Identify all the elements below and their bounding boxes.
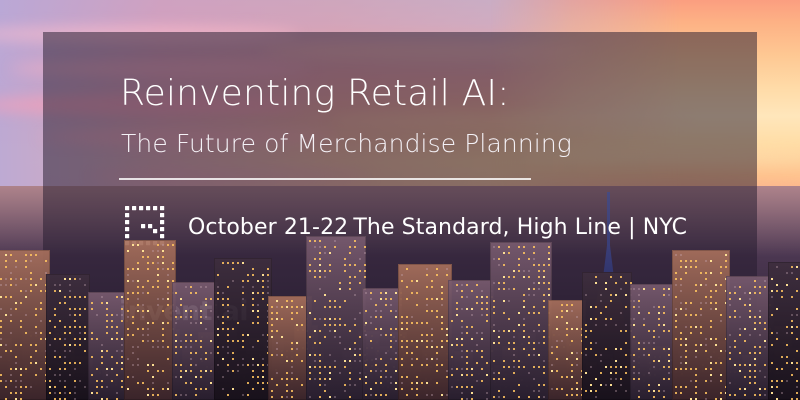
window-light (538, 390, 540, 392)
window-light (523, 270, 525, 272)
window-light (121, 308, 123, 310)
window-light (508, 276, 510, 278)
window-light (380, 334, 382, 336)
window-light (271, 324, 273, 326)
window-light (370, 298, 372, 300)
window-light (101, 362, 103, 364)
window-light (658, 360, 660, 362)
window-light (172, 262, 174, 264)
window-light (668, 378, 670, 380)
window-light (648, 354, 650, 356)
window-light (786, 326, 788, 328)
window-light (523, 294, 525, 296)
window-light (725, 260, 727, 262)
window-light (227, 262, 229, 264)
window-light (543, 276, 545, 278)
window-light (106, 314, 108, 316)
window-light (354, 246, 356, 248)
window-light (339, 282, 341, 284)
window-light (648, 312, 650, 314)
window-light (296, 348, 298, 350)
window-light (486, 314, 488, 316)
window-light (451, 320, 453, 322)
window-light (416, 382, 418, 384)
window-light (252, 370, 254, 372)
window-light (59, 320, 61, 322)
window-light (116, 392, 118, 394)
window-light (74, 392, 76, 394)
window-light (232, 262, 234, 264)
window-light (91, 374, 93, 376)
window-light (543, 342, 545, 344)
window-light (195, 322, 197, 324)
window-light (5, 260, 7, 262)
window-light (791, 266, 793, 268)
building (124, 240, 176, 400)
window-light (523, 348, 525, 350)
window-light (167, 298, 169, 300)
window-light (493, 396, 495, 398)
window-light (625, 306, 627, 308)
window-light (653, 390, 655, 392)
window-light (79, 362, 81, 364)
window-light (329, 324, 331, 326)
window-light (498, 390, 500, 392)
window-light (319, 396, 321, 398)
window-light (543, 270, 545, 272)
window-light (200, 340, 202, 342)
window-light (200, 388, 202, 390)
window-light (217, 364, 219, 366)
window-light (513, 372, 515, 374)
window-light (286, 378, 288, 380)
window-light (84, 386, 86, 388)
window-light (276, 354, 278, 356)
window-light (543, 282, 545, 284)
window-light (79, 332, 81, 334)
window-light (451, 374, 453, 376)
window-light (571, 352, 573, 354)
window-light (680, 266, 682, 268)
window-light (653, 366, 655, 368)
window-light (620, 378, 622, 380)
window-light (276, 318, 278, 320)
window-light (471, 290, 473, 292)
window-light (237, 340, 239, 342)
window-light (503, 288, 505, 290)
window-light (162, 370, 164, 372)
window-light (64, 380, 66, 382)
window-light (106, 332, 108, 334)
window-light (680, 260, 682, 262)
window-light (385, 352, 387, 354)
window-light (5, 278, 7, 280)
window-light (759, 352, 761, 354)
window-light (658, 312, 660, 314)
window-light (710, 356, 712, 358)
window-light (121, 320, 123, 322)
window-light (5, 296, 7, 298)
window-light (185, 334, 187, 336)
window-light (157, 298, 159, 300)
window-light (675, 326, 677, 328)
window-light (354, 354, 356, 356)
window-light (147, 394, 149, 396)
window-light (796, 362, 798, 364)
window-light (461, 392, 463, 394)
window-light (720, 272, 722, 274)
window-light (585, 348, 587, 350)
window-light (237, 262, 239, 264)
window-light (451, 386, 453, 388)
window-light (64, 362, 66, 364)
window-light (91, 338, 93, 340)
window-light (232, 388, 234, 390)
window-light (513, 330, 515, 332)
window-light (222, 298, 224, 300)
window-light (739, 388, 741, 390)
window-light (493, 324, 495, 326)
window-light (314, 354, 316, 356)
window-light (571, 310, 573, 312)
window-light (498, 246, 500, 248)
window-light (551, 352, 553, 354)
window-light (796, 392, 798, 394)
window-light (498, 282, 500, 284)
window-light (0, 278, 2, 280)
window-light (20, 290, 22, 292)
window-light (675, 254, 677, 256)
window-light (715, 302, 717, 304)
window-light (754, 382, 756, 384)
window-light (344, 390, 346, 392)
window-light (339, 306, 341, 308)
window-light (20, 326, 22, 328)
window-light (175, 334, 177, 336)
window-light (5, 380, 7, 382)
window-light (498, 372, 500, 374)
window-light (69, 296, 71, 298)
window-light (493, 282, 495, 284)
window-light (528, 270, 530, 272)
window-light (734, 340, 736, 342)
window-light (185, 316, 187, 318)
window-light (471, 386, 473, 388)
window-light (411, 322, 413, 324)
window-light (147, 262, 149, 264)
window-light (74, 362, 76, 364)
window-light (309, 372, 311, 374)
window-light (217, 286, 219, 288)
window-light (79, 380, 81, 382)
window-light (247, 382, 249, 384)
window-light (653, 360, 655, 362)
window-light (685, 326, 687, 328)
window-light (401, 316, 403, 318)
window-light (476, 302, 478, 304)
window-light (690, 326, 692, 328)
window-light (466, 308, 468, 310)
window-light (431, 298, 433, 300)
window-light (375, 316, 377, 318)
window-light (556, 358, 558, 360)
window-light (633, 318, 635, 320)
window-light (663, 378, 665, 380)
window-light (127, 250, 129, 252)
window-light (513, 288, 515, 290)
window-light (416, 394, 418, 396)
window-light (528, 258, 530, 260)
window-light (49, 344, 51, 346)
window-light (518, 264, 520, 266)
window-light (79, 314, 81, 316)
window-light (84, 308, 86, 310)
window-light (147, 364, 149, 366)
window-light (20, 320, 22, 322)
window-light (227, 298, 229, 300)
window-light (466, 386, 468, 388)
window-light (291, 390, 293, 392)
window-light (271, 378, 273, 380)
window-light (776, 332, 778, 334)
window-light (319, 360, 321, 362)
window-light (329, 300, 331, 302)
window-light (759, 310, 761, 312)
window-light (754, 364, 756, 366)
window-light (262, 280, 264, 282)
window-light (605, 318, 607, 320)
window-light (486, 392, 488, 394)
window-light (200, 316, 202, 318)
window-light (690, 260, 692, 262)
window-light (222, 376, 224, 378)
window-light (638, 288, 640, 290)
window-light (59, 338, 61, 340)
window-light (370, 322, 372, 324)
window-light (152, 262, 154, 264)
window-light (533, 348, 535, 350)
window-light (528, 294, 530, 296)
window-light (680, 254, 682, 256)
window-light (281, 336, 283, 338)
window-light (401, 328, 403, 330)
window-light (781, 290, 783, 292)
window-light (538, 330, 540, 332)
window-light (64, 338, 66, 340)
window-light (15, 368, 17, 370)
window-light (157, 394, 159, 396)
window-light (390, 358, 392, 360)
window-light (508, 366, 510, 368)
window-light (329, 252, 331, 254)
window-light (200, 346, 202, 348)
window-light (590, 384, 592, 386)
window-light (40, 338, 42, 340)
window-light (40, 332, 42, 334)
window-light (271, 354, 273, 356)
window-light (426, 346, 428, 348)
window-light (685, 308, 687, 310)
window-light (710, 272, 712, 274)
window-light (64, 344, 66, 346)
window-light (319, 366, 321, 368)
window-light (309, 366, 311, 368)
window-light (566, 376, 568, 378)
window-light (257, 280, 259, 282)
window-light (190, 352, 192, 354)
window-light (585, 372, 587, 374)
window-light (96, 380, 98, 382)
window-light (79, 344, 81, 346)
window-light (625, 324, 627, 326)
window-light (314, 330, 316, 332)
window-light (633, 354, 635, 356)
window-light (175, 394, 177, 396)
window-light (116, 296, 118, 298)
window-light (142, 256, 144, 258)
window-light (533, 330, 535, 332)
window-light (615, 294, 617, 296)
window-light (296, 312, 298, 314)
window-light (739, 316, 741, 318)
window-light (375, 364, 377, 366)
window-light (69, 392, 71, 394)
window-light (605, 306, 607, 308)
window-light (364, 264, 366, 266)
window-light (416, 376, 418, 378)
window-light (734, 286, 736, 288)
window-light (595, 318, 597, 320)
window-light (59, 290, 61, 292)
window-light (242, 262, 244, 264)
window-light (334, 240, 336, 242)
window-light (344, 264, 346, 266)
window-light (359, 282, 361, 284)
window-light (296, 354, 298, 356)
window-light (705, 272, 707, 274)
window-light (791, 362, 793, 364)
window-light (590, 306, 592, 308)
window-light (185, 370, 187, 372)
window-light (121, 344, 123, 346)
window-light (710, 374, 712, 376)
window-light (205, 358, 207, 360)
window-light (291, 360, 293, 362)
window-light (210, 352, 212, 354)
window-light (796, 350, 798, 352)
window-light (111, 326, 113, 328)
window-light (749, 382, 751, 384)
building (630, 284, 674, 400)
window-light (96, 338, 98, 340)
window-light (754, 322, 756, 324)
window-light (227, 364, 229, 366)
window-light (461, 350, 463, 352)
window-light (15, 386, 17, 388)
window-light (301, 384, 303, 386)
window-light (744, 328, 746, 330)
window-light (446, 274, 448, 276)
window-light (127, 376, 129, 378)
window-light (227, 346, 229, 348)
window-light (35, 314, 37, 316)
window-light (486, 362, 488, 364)
building (306, 236, 366, 400)
window-light (675, 308, 677, 310)
window-light (162, 388, 164, 390)
window-light (257, 310, 259, 312)
window-light (685, 314, 687, 316)
window-light (309, 312, 311, 314)
window-light (754, 358, 756, 360)
window-light (585, 324, 587, 326)
window-light (227, 334, 229, 336)
window-light (523, 336, 525, 338)
window-light (705, 392, 707, 394)
window-light (441, 286, 443, 288)
window-light (286, 360, 288, 362)
window-light (493, 372, 495, 374)
window-light (64, 356, 66, 358)
window-light (781, 368, 783, 370)
window-light (359, 336, 361, 338)
window-light (0, 296, 2, 298)
window-light (796, 278, 798, 280)
window-light (116, 374, 118, 376)
window-light (222, 304, 224, 306)
building (768, 262, 800, 400)
window-light (595, 342, 597, 344)
window-light (0, 326, 2, 328)
window-light (436, 268, 438, 270)
window-light (354, 240, 356, 242)
window-light (232, 268, 234, 270)
window-light (385, 292, 387, 294)
window-light (10, 296, 12, 298)
window-light (705, 284, 707, 286)
window-light (286, 384, 288, 386)
window-light (538, 276, 540, 278)
window-light (349, 288, 351, 290)
window-light (411, 316, 413, 318)
window-light (132, 280, 134, 282)
window-light (195, 352, 197, 354)
window-light (137, 286, 139, 288)
window-light (734, 316, 736, 318)
window-light (436, 382, 438, 384)
window-light (370, 370, 372, 372)
window-light (610, 384, 612, 386)
window-light (566, 394, 568, 396)
window-light (648, 342, 650, 344)
window-light (776, 266, 778, 268)
window-light (291, 306, 293, 308)
window-light (15, 302, 17, 304)
window-light (344, 360, 346, 362)
window-light (40, 290, 42, 292)
window-light (380, 358, 382, 360)
window-light (595, 306, 597, 308)
window-light (561, 376, 563, 378)
window-light (395, 340, 397, 342)
window-light (643, 348, 645, 350)
window-light (571, 370, 573, 372)
window-light (426, 364, 428, 366)
window-light (10, 392, 12, 394)
window-light (476, 380, 478, 382)
window-light (595, 324, 597, 326)
window-light (49, 320, 51, 322)
